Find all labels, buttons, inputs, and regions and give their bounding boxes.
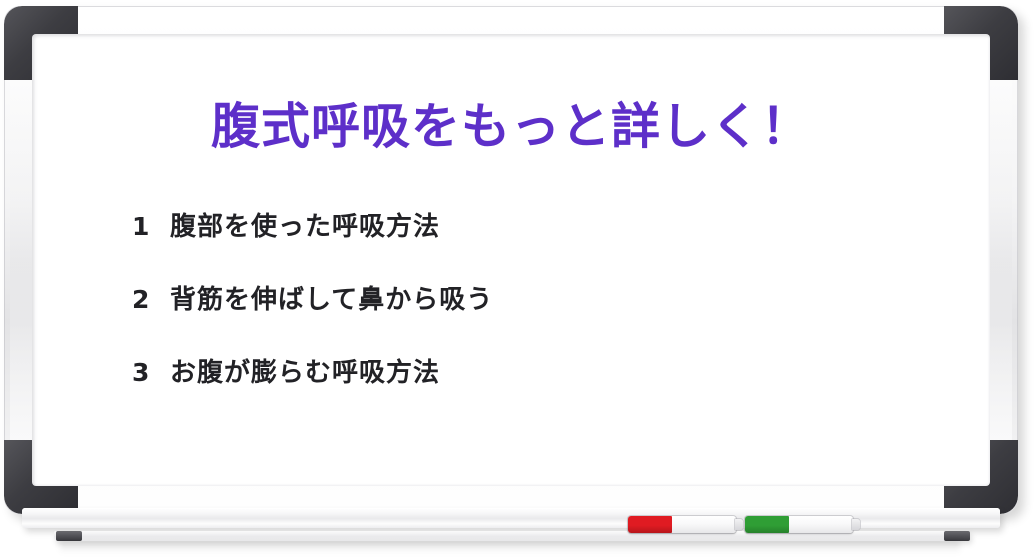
red-marker-cap: [628, 516, 672, 533]
red-marker-tail: [735, 519, 743, 530]
board-item-list: 1 腹部を使った呼吸方法 2 背筋を伸ばして鼻から吸う 3 お腹が膨らむ呼吸方法: [132, 206, 950, 425]
whiteboard-scene: 腹式呼吸をもっと詳しく！ 1 腹部を使った呼吸方法 2 背筋を伸ばして鼻から吸う…: [0, 0, 1035, 560]
list-item-label: お腹が膨らむ呼吸方法: [170, 352, 440, 389]
list-item-number: 2: [132, 285, 170, 314]
list-item-label: 腹部を使った呼吸方法: [170, 206, 440, 243]
green-marker-tail: [852, 519, 860, 530]
board-writing-surface[interactable]: 腹式呼吸をもっと詳しく！ 1 腹部を使った呼吸方法 2 背筋を伸ばして鼻から吸う…: [32, 34, 990, 486]
list-item-label: 背筋を伸ばして鼻から吸う: [170, 279, 493, 316]
board-drop-shadow: [60, 540, 960, 554]
red-marker[interactable]: [628, 516, 736, 533]
board-list-item: 1 腹部を使った呼吸方法: [132, 206, 950, 279]
green-marker-cap: [745, 516, 789, 533]
board-title: 腹式呼吸をもっと詳しく！: [32, 87, 990, 158]
whiteboard: 腹式呼吸をもっと詳しく！ 1 腹部を使った呼吸方法 2 背筋を伸ばして鼻から吸う…: [4, 6, 1018, 514]
board-list-item: 2 背筋を伸ばして鼻から吸う: [132, 279, 950, 352]
board-list-item: 3 お腹が膨らむ呼吸方法: [132, 352, 950, 425]
list-item-number: 1: [132, 212, 170, 241]
green-marker[interactable]: [745, 516, 853, 533]
list-item-number: 3: [132, 358, 170, 387]
